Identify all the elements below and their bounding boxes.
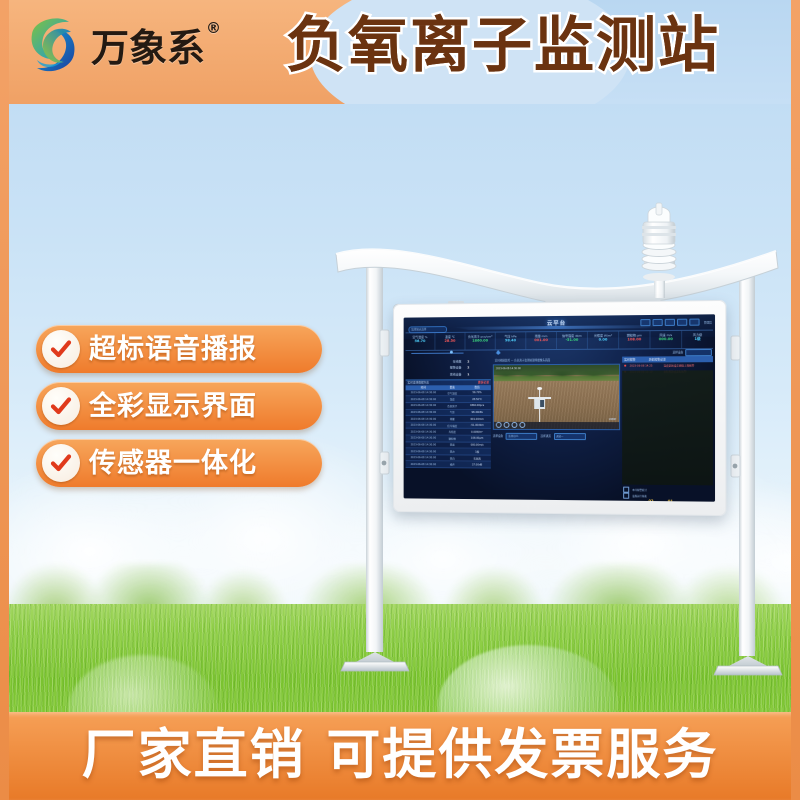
cell-item: 颗粒物 [441, 436, 463, 440]
cell-value: 东南风 [463, 456, 490, 460]
brand-name-text: 万象系 [91, 26, 205, 70]
alarm-dot-icon [624, 364, 626, 366]
device-icon[interactable] [677, 319, 687, 326]
cell-item: 雨量 [441, 417, 463, 421]
brand-name: 万象系® [91, 29, 220, 67]
metric-value: 56.70 [406, 339, 435, 345]
check-circle-icon [42, 330, 80, 368]
video-controls: 选择设备监测站01选择通道通道一 [493, 432, 620, 439]
data-table-title: 实时监测数据列表 [407, 381, 429, 385]
camera-feed[interactable]: 2023-06-08 14:30:00 1080P [493, 363, 620, 429]
control-bar-select[interactable] [685, 348, 712, 355]
map-pin-icon [496, 350, 501, 355]
header-toolbar: 管理员 [641, 318, 712, 326]
cell-time: 2023-06-08 14:30:00 [406, 450, 442, 453]
cell-value: 0.00W/m² [463, 431, 490, 434]
video-panel: 实时视频监控 — 负氧离子监测站现场摄像头画面 [493, 357, 620, 499]
display-screen: 云平台 监测站点选择 管理员 空气湿度 %56.70温度 ℃28.50负氧离子 … [404, 314, 715, 501]
feed-weather-station [526, 389, 553, 422]
cell-time: 2023-06-08 14:30:00 [406, 437, 442, 440]
metric-value: 0.00 [588, 337, 618, 343]
alarm-footer-items: 本月报警统计设备运行报表 [622, 487, 713, 500]
cell-item: 负氧离子 [441, 404, 463, 408]
cell-value: -51.00dbm [463, 424, 490, 427]
cell-item: 气压 [441, 410, 463, 414]
data-table-column-header: 要素 [441, 386, 463, 390]
metric-card: 负氧离子 pcs/cm³1860.00 [465, 333, 495, 350]
alarm-footer-label: 本月报警统计 [632, 488, 647, 492]
timeline-slider[interactable] [411, 353, 463, 354]
cell-value: 28.50℃ [463, 398, 490, 401]
data-table-body: 2023-06-08 14:30:00空气湿度56.70%2023-06-08 … [406, 390, 491, 469]
video-control-value: 通道一 [556, 434, 563, 438]
cell-value: 001.00mm [463, 417, 490, 420]
metric-value: -51.00 [557, 337, 587, 343]
data-icon[interactable] [653, 319, 663, 326]
cell-time: 2023-06-08 14:30:00 [406, 391, 442, 394]
cell-value: 37.00dB [463, 463, 490, 466]
cell-item: 风向 [441, 456, 463, 460]
feature-badge-label: 传感器一体化 [89, 450, 257, 477]
brand-logo: 万象系® [24, 14, 220, 76]
cell-time: 2023-06-08 14:30:00 [406, 456, 442, 459]
metric-card: 风速 m/s000.00 [651, 331, 683, 348]
user-label[interactable]: 管理员 [704, 320, 712, 324]
left-data-panel: 在线数2报警设备2离线设备1 实时监测数据列表 更多记录 时间要素数值 2023… [406, 357, 491, 497]
tab-history-alarm[interactable]: 历史报警记录 [649, 357, 666, 361]
feature-badge-label: 超标语音播报 [89, 336, 257, 363]
metric-value: 1级 [682, 336, 713, 342]
alarm-count: 02 [648, 499, 653, 502]
data-table-column-header: 数值 [463, 386, 490, 390]
station-selector-label: 监测站点选择 [411, 328, 426, 332]
globe-swirl-icon [24, 14, 84, 76]
secondary-camera-feed[interactable] [622, 370, 713, 485]
video-resolution-label: 1080P [608, 418, 616, 421]
cloud-platform-dashboard: 云平台 监测站点选择 管理员 空气湿度 %56.70温度 ℃28.50负氧离子 … [404, 314, 715, 501]
video-timestamp: 2023-06-08 14:30:00 [496, 367, 521, 370]
feed-anemometer [537, 387, 542, 390]
cell-item: 噪声 [441, 462, 463, 466]
poster-footer: 厂家直销 可提供发票服务 [0, 712, 800, 800]
video-control-select[interactable]: 监测站01 [506, 432, 538, 439]
feature-badge: 超标语音播报 [36, 325, 322, 373]
metric-card: 空气湿度 %56.70 [406, 333, 436, 350]
check-circle-icon [42, 387, 80, 425]
metric-value: 001.00 [526, 338, 556, 344]
settings-icon[interactable] [690, 319, 700, 326]
metric-value: 000.00 [651, 337, 682, 343]
metric-card: 信号强度 dbm-51.00 [557, 332, 588, 349]
video-control-value: 监测站01 [508, 434, 518, 438]
metric-value: 108.00 [619, 337, 649, 343]
device-stat-value: 1 [467, 371, 469, 377]
metric-value: 28.50 [435, 338, 464, 344]
metric-card: 气压 kPa98.40 [496, 332, 527, 349]
cell-item: 温度 [441, 397, 463, 401]
feed-solar-panel [540, 400, 544, 407]
pause-icon[interactable] [504, 422, 510, 428]
cell-time: 2023-06-08 14:30:00 [406, 411, 442, 414]
alarm-footer-numbers: 0201 [622, 499, 713, 502]
cell-item: 光照度 [441, 430, 463, 434]
frame-border-right [791, 0, 800, 800]
data-table-column-header: 时间 [406, 386, 442, 390]
table-row[interactable]: 2023-06-08 14:30:00噪声37.00dB [406, 461, 491, 468]
control-bar-label: 选择设备 [673, 350, 684, 354]
page-title: 负氧离子监测站 [286, 14, 786, 79]
snapshot-icon[interactable] [511, 422, 517, 428]
report-icon [623, 493, 629, 499]
cell-value: 108.00μm [463, 437, 490, 440]
video-control-label: 选择通道 [540, 434, 550, 438]
device-stat-label: 离线设备 [450, 371, 462, 377]
cell-item: 风速 [441, 443, 463, 447]
alarm-footer: 本月报警统计设备运行报表 0201 [622, 487, 713, 500]
fullscreen-icon[interactable] [519, 422, 525, 428]
alarm-time: 2023-06-08 14:25 [630, 364, 653, 367]
frame-border-left [0, 0, 9, 800]
cell-item: 空气湿度 [441, 391, 463, 395]
cell-time: 2023-06-08 14:30:00 [406, 430, 442, 433]
registered-mark: ® [206, 19, 221, 37]
alarm-message: 温度超出设定阈值上限报警 [664, 363, 695, 367]
play-icon[interactable] [496, 422, 502, 428]
cell-time: 2023-06-08 14:30:00 [406, 398, 442, 401]
metric-value: 1860.00 [465, 338, 494, 344]
feature-badge-list: 超标语音播报全彩显示界面传感器一体化 [36, 325, 322, 496]
home-icon[interactable] [641, 319, 651, 326]
cell-time: 2023-06-08 14:30:00 [406, 443, 442, 446]
video-control-select[interactable]: 通道一 [554, 432, 586, 439]
footer-slogan: 厂家直销 可提供发票服务 [0, 727, 800, 784]
feature-badge-label: 全彩显示界面 [89, 393, 257, 420]
control-bar-right: 选择设备 [673, 348, 712, 355]
alarm-icon[interactable] [665, 319, 675, 326]
cell-item: 信号强度 [441, 423, 463, 427]
video-control-label: 选择设备 [493, 434, 503, 438]
cell-value: 000.00m/s [463, 444, 490, 447]
metric-card: 颗粒物 μm108.00 [619, 331, 650, 348]
cell-value: 1级 [463, 450, 490, 454]
tab-realtime-alarm[interactable]: 实时报警 [624, 358, 635, 362]
feature-badge: 全彩显示界面 [36, 382, 322, 430]
metric-value: 98.40 [496, 338, 526, 344]
outdoor-led-display: 云平台 监测站点选择 管理员 空气湿度 %56.70温度 ℃28.50负氧离子 … [393, 300, 726, 516]
feature-badge: 传感器一体化 [36, 439, 322, 487]
cell-time: 2023-06-08 14:30:00 [406, 424, 442, 427]
more-records-link[interactable]: 更多记录 [478, 381, 489, 385]
device-stat: 离线设备1 [406, 371, 491, 378]
metric-card: 光照度 W/m²0.00 [588, 331, 619, 348]
product-poster: 云平台 监测站点选择 管理员 空气湿度 %56.70温度 ℃28.50负氧离子 … [0, 0, 800, 800]
alarm-count: 01 [668, 499, 673, 502]
data-table-columns: 时间要素数值 [406, 385, 491, 390]
metric-card: 雨量 mm001.00 [526, 332, 557, 349]
device-stats: 在线数2报警设备2离线设备1 [406, 357, 491, 379]
alarm-footer-label: 设备运行报表 [632, 494, 647, 498]
alarm-panel: 实时报警 历史报警记录 2023-06-08 14:25温度超出设定阈值上限报警… [622, 356, 713, 500]
cell-value: 1860.00pcs [463, 404, 490, 407]
cell-time: 2023-06-08 14:30:00 [406, 463, 442, 466]
cell-value: 98.40kPa [463, 411, 490, 414]
poster-header: 万象系® 负氧离子监测站 负氧离子监测站 [0, 0, 800, 104]
cell-time: 2023-06-08 14:30:00 [406, 417, 442, 420]
metric-card: 温度 ℃28.50 [435, 333, 465, 350]
check-circle-icon [42, 444, 80, 482]
cell-time: 2023-06-08 14:30:00 [406, 404, 442, 407]
video-toolbar [494, 421, 619, 428]
metric-card: 风力级1级 [682, 331, 713, 349]
wave-canopy [336, 249, 778, 306]
cell-value: 56.70% [463, 391, 490, 394]
cell-item: 风力 [441, 449, 463, 453]
